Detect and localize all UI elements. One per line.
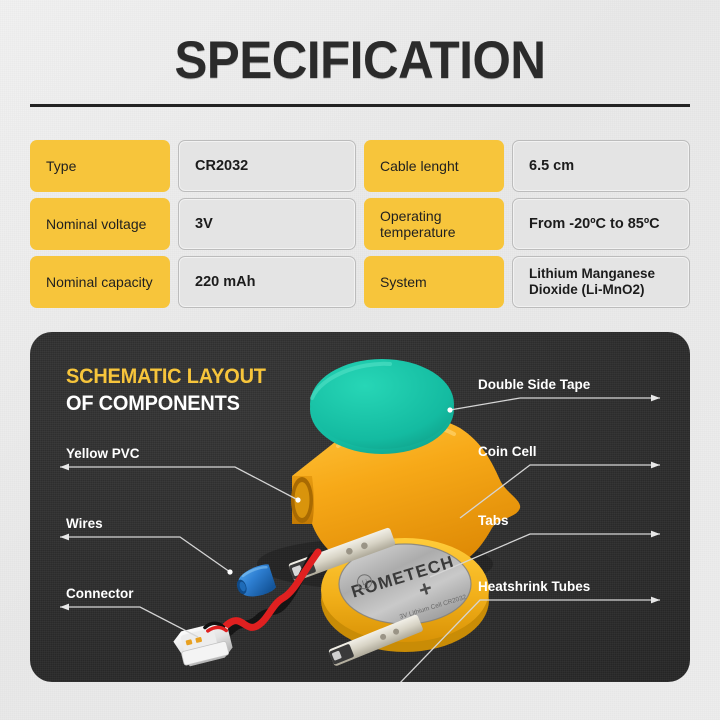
spec-value-nominal-voltage: 3V: [178, 198, 356, 250]
spec-key-system: System: [364, 256, 504, 308]
exploded-component-artwork: ROMETECH + 3V Lithium Cell CR2032 Li: [30, 332, 690, 682]
page-title: SPECIFICATION: [25, 30, 695, 91]
title-divider: [30, 104, 690, 107]
spec-value-cable-length: 6.5 cm: [512, 140, 690, 192]
spec-key-type: Type: [30, 140, 170, 192]
spec-key-cable-length: Cable lenght: [364, 140, 504, 192]
spec-key-nominal-capacity: Nominal capacity: [30, 256, 170, 308]
spec-key-nominal-voltage: Nominal voltage: [30, 198, 170, 250]
connector-part: [171, 620, 234, 669]
callout-connector: Connector: [66, 586, 134, 601]
callout-double-side-tape: Double Side Tape: [478, 377, 590, 392]
spec-value-operating-temp: From -20ºC to 85ºC: [512, 198, 690, 250]
double-side-tape-part: [310, 359, 454, 454]
specification-infographic: SPECIFICATION Type CR2032 Cable lenght 6…: [0, 0, 720, 720]
callout-tabs: Tabs: [478, 513, 509, 528]
callout-heatshrink-tubes: Heatshrink Tubes: [478, 579, 590, 594]
callout-wires: Wires: [66, 516, 103, 531]
spec-key-operating-temp: Operating temperature: [364, 198, 504, 250]
callout-coin-cell: Coin Cell: [478, 444, 537, 459]
spec-value-system: Lithium Manganese Dioxide (Li-MnO2): [512, 256, 690, 308]
spec-value-type: CR2032: [178, 140, 356, 192]
schematic-panel: SCHEMATIC LAYOUT OF COMPONENTS: [30, 332, 690, 682]
callout-yellow-pvc: Yellow PVC: [66, 446, 140, 461]
specification-table: Type CR2032 Cable lenght 6.5 cm Nominal …: [30, 140, 690, 308]
spec-value-nominal-capacity: 220 mAh: [178, 256, 356, 308]
